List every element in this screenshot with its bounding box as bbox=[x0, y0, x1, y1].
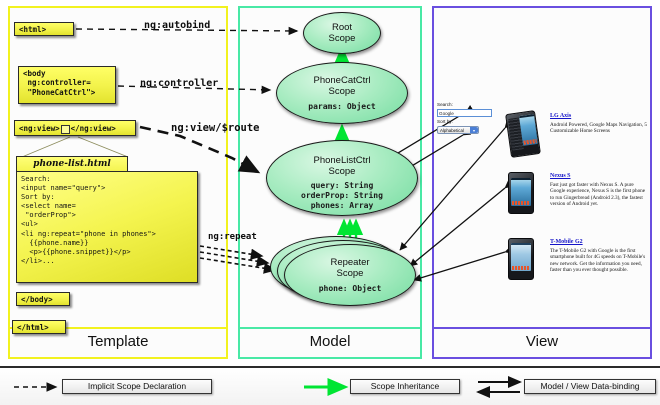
code-tag-html: <html> bbox=[14, 22, 74, 36]
legend-item-implicit-scope-declaration: Implicit Scope Declaration bbox=[62, 379, 212, 394]
note-code: Search: <input name="query"> Sort by: <s… bbox=[16, 171, 198, 283]
edge-label-ng-controller: ng:controller bbox=[140, 78, 218, 89]
code-tag-html-close: </html> bbox=[12, 320, 66, 334]
edge-label-ng-view-route: ng:view/$route bbox=[171, 122, 260, 134]
scope-phonecatctrl: PhoneCatCtrl Scope params: Object bbox=[276, 62, 408, 124]
scope-phonelistctrl: PhoneListCtrl Scope query: String orderP… bbox=[266, 140, 418, 216]
legend-item-model-view-data-binding: Model / View Data-binding bbox=[524, 379, 656, 394]
search-label: Search: bbox=[437, 102, 493, 108]
scope-phonecatctrl-prop-params: params: Object bbox=[277, 102, 407, 112]
angular-concepts-diagram: Template Model View bbox=[0, 0, 660, 405]
phone-snippet: Android Powered, Google Maps Navigation,… bbox=[550, 122, 650, 135]
ngview-placeholder-square bbox=[61, 125, 70, 134]
phone-snippet: The T-Mobile G2 with Google is the first… bbox=[550, 248, 650, 274]
scope-phonelistctrl-title-line2: Scope bbox=[267, 166, 417, 177]
phone-name-link[interactable]: LG Axis bbox=[550, 112, 650, 120]
scope-repeater-prop-phone: phone: Object bbox=[285, 284, 415, 294]
chevron-down-icon: ▾ bbox=[470, 127, 478, 133]
ngview-open-tag: <ng:view> bbox=[19, 124, 60, 133]
phone-candybar-icon bbox=[508, 172, 534, 214]
sort-select[interactable]: Alphabetical ▾ bbox=[437, 126, 479, 134]
phone-slate-icon bbox=[508, 238, 534, 280]
note-title: phone-list.html bbox=[16, 156, 128, 172]
scope-phonelistctrl-prop-phones: phones: Array bbox=[267, 201, 417, 211]
ngview-close-tag: </ng:view> bbox=[71, 124, 116, 133]
section-model-label: Model bbox=[240, 329, 420, 355]
phone-name-link[interactable]: T-Mobile G2 bbox=[550, 238, 650, 246]
scope-phonecatctrl-title-line2: Scope bbox=[277, 86, 407, 97]
scope-root: Root Scope bbox=[303, 12, 381, 54]
phone-qwerty-slider-icon bbox=[508, 112, 538, 156]
legend-item-scope-inheritance: Scope Inheritance bbox=[350, 379, 460, 394]
scope-phonelistctrl-title-line1: PhoneListCtrl bbox=[267, 155, 417, 166]
scope-phonelistctrl-prop-orderprop: orderProp: String bbox=[267, 191, 417, 201]
section-view-label: View bbox=[434, 329, 650, 355]
scope-repeater-title-line1: Repeater bbox=[285, 257, 415, 268]
scope-repeater: Repeater Scope phone: Object bbox=[284, 244, 416, 306]
edge-label-ng-autobind: ng:autobind bbox=[144, 20, 210, 31]
edge-label-ng-repeat: ng:repeat bbox=[208, 232, 257, 242]
scope-phonelistctrl-prop-query: query: String bbox=[267, 181, 417, 191]
phone-name-link[interactable]: Nexus S bbox=[550, 172, 650, 180]
scope-root-title-line2: Scope bbox=[304, 33, 380, 44]
scope-phonecatctrl-title-line1: PhoneCatCtrl bbox=[277, 75, 407, 86]
sort-select-value: Alphabetical bbox=[440, 128, 464, 133]
phone-snippet: Fast just got faster with Nexus S. A pur… bbox=[550, 182, 650, 208]
view-search-panel: Search: Google Sort by: Alphabetical ▾ bbox=[437, 102, 493, 134]
legend: Implicit Scope Declaration Scope Inherit… bbox=[0, 366, 660, 405]
code-tag-body-close: </body> bbox=[16, 292, 70, 306]
sort-label: Sort by: bbox=[437, 119, 493, 125]
code-tag-ngview: <ng:view></ng:view> bbox=[14, 120, 136, 136]
phone-list-html-note: phone-list.html Search: <input name="que… bbox=[16, 156, 198, 284]
scope-root-title-line1: Root bbox=[304, 22, 380, 33]
code-tag-body: <body ng:controller= "PhoneCatCtrl"> bbox=[18, 66, 116, 104]
scope-repeater-title-line2: Scope bbox=[285, 268, 415, 279]
search-input[interactable]: Google bbox=[437, 109, 492, 117]
